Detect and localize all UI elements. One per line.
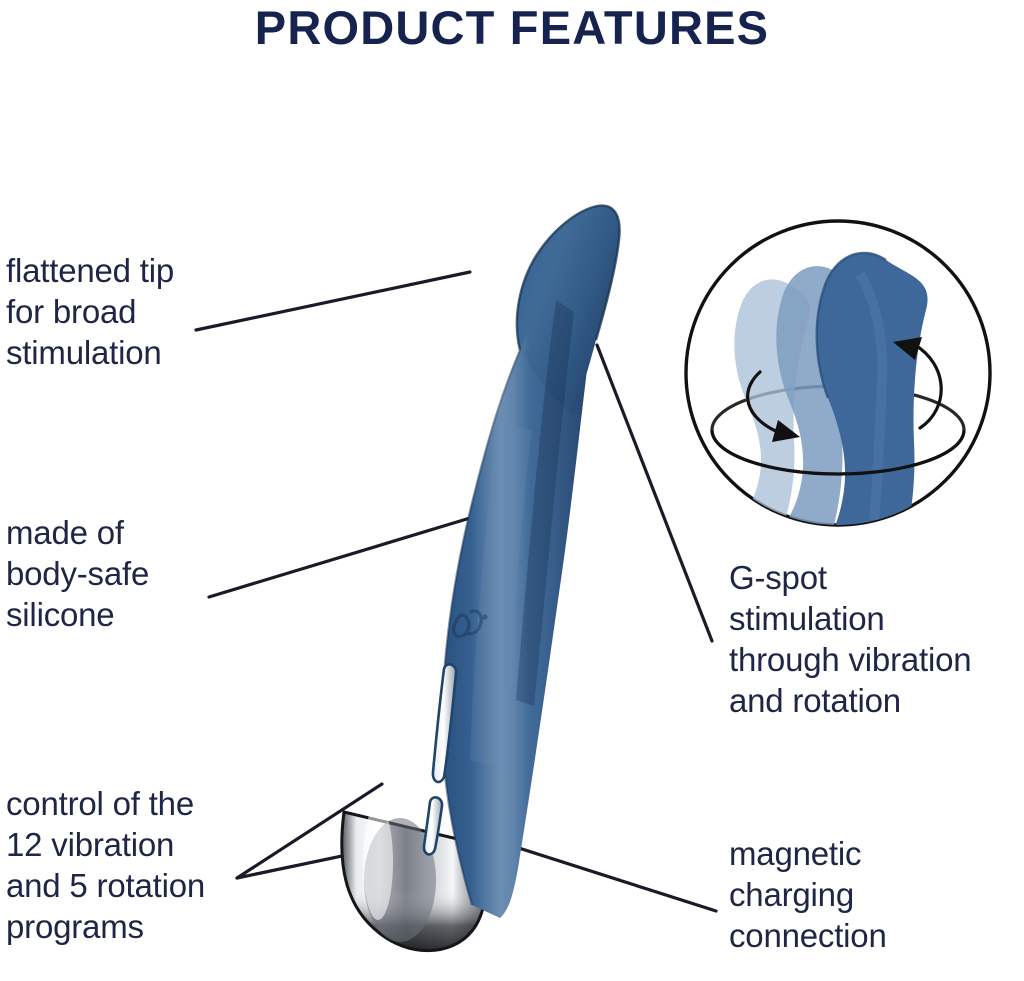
label-magnetic-charging: magnetic charging connection [729, 833, 887, 956]
label-body-safe-line-2: body-safe [6, 553, 149, 594]
label-controls-line-2: 12 vibration [6, 824, 205, 865]
leader-line-flattened-tip [196, 272, 470, 330]
label-flattened-tip-line-1: flattened tip [6, 250, 174, 291]
label-controls-line-1: control of the [6, 783, 205, 824]
label-gspot-line-4: and rotation [729, 680, 971, 721]
label-controls-line-3: and 5 rotation [6, 865, 205, 906]
label-vibration-rotation-controls: control of the 12 vibration and 5 rotati… [6, 783, 205, 947]
label-magnetic-line-3: connection [729, 915, 887, 956]
label-body-safe-line-1: made of [6, 512, 149, 553]
product-features-diagram: PRODUCT FEATURES [0, 0, 1024, 981]
leader-line-magnetic [503, 843, 716, 911]
label-magnetic-line-2: charging [729, 874, 887, 915]
label-controls-line-4: programs [6, 906, 205, 947]
label-gspot-line-1: G-spot [729, 557, 971, 598]
label-flattened-tip-line-2: for broad [6, 291, 174, 332]
label-gspot-line-2: stimulation [729, 598, 971, 639]
leader-line-body-safe [209, 515, 480, 597]
label-body-safe-silicone: made of body-safe silicone [6, 512, 149, 635]
label-flattened-tip-line-3: stimulation [6, 332, 174, 373]
label-g-spot-stimulation: G-spot stimulation through vibration and… [729, 557, 971, 721]
rotation-detail-circle [686, 221, 990, 562]
label-flattened-tip: flattened tip for broad stimulation [6, 250, 174, 373]
label-gspot-line-3: through vibration [729, 639, 971, 680]
label-magnetic-line-1: magnetic [729, 833, 887, 874]
label-body-safe-line-3: silicone [6, 594, 149, 635]
